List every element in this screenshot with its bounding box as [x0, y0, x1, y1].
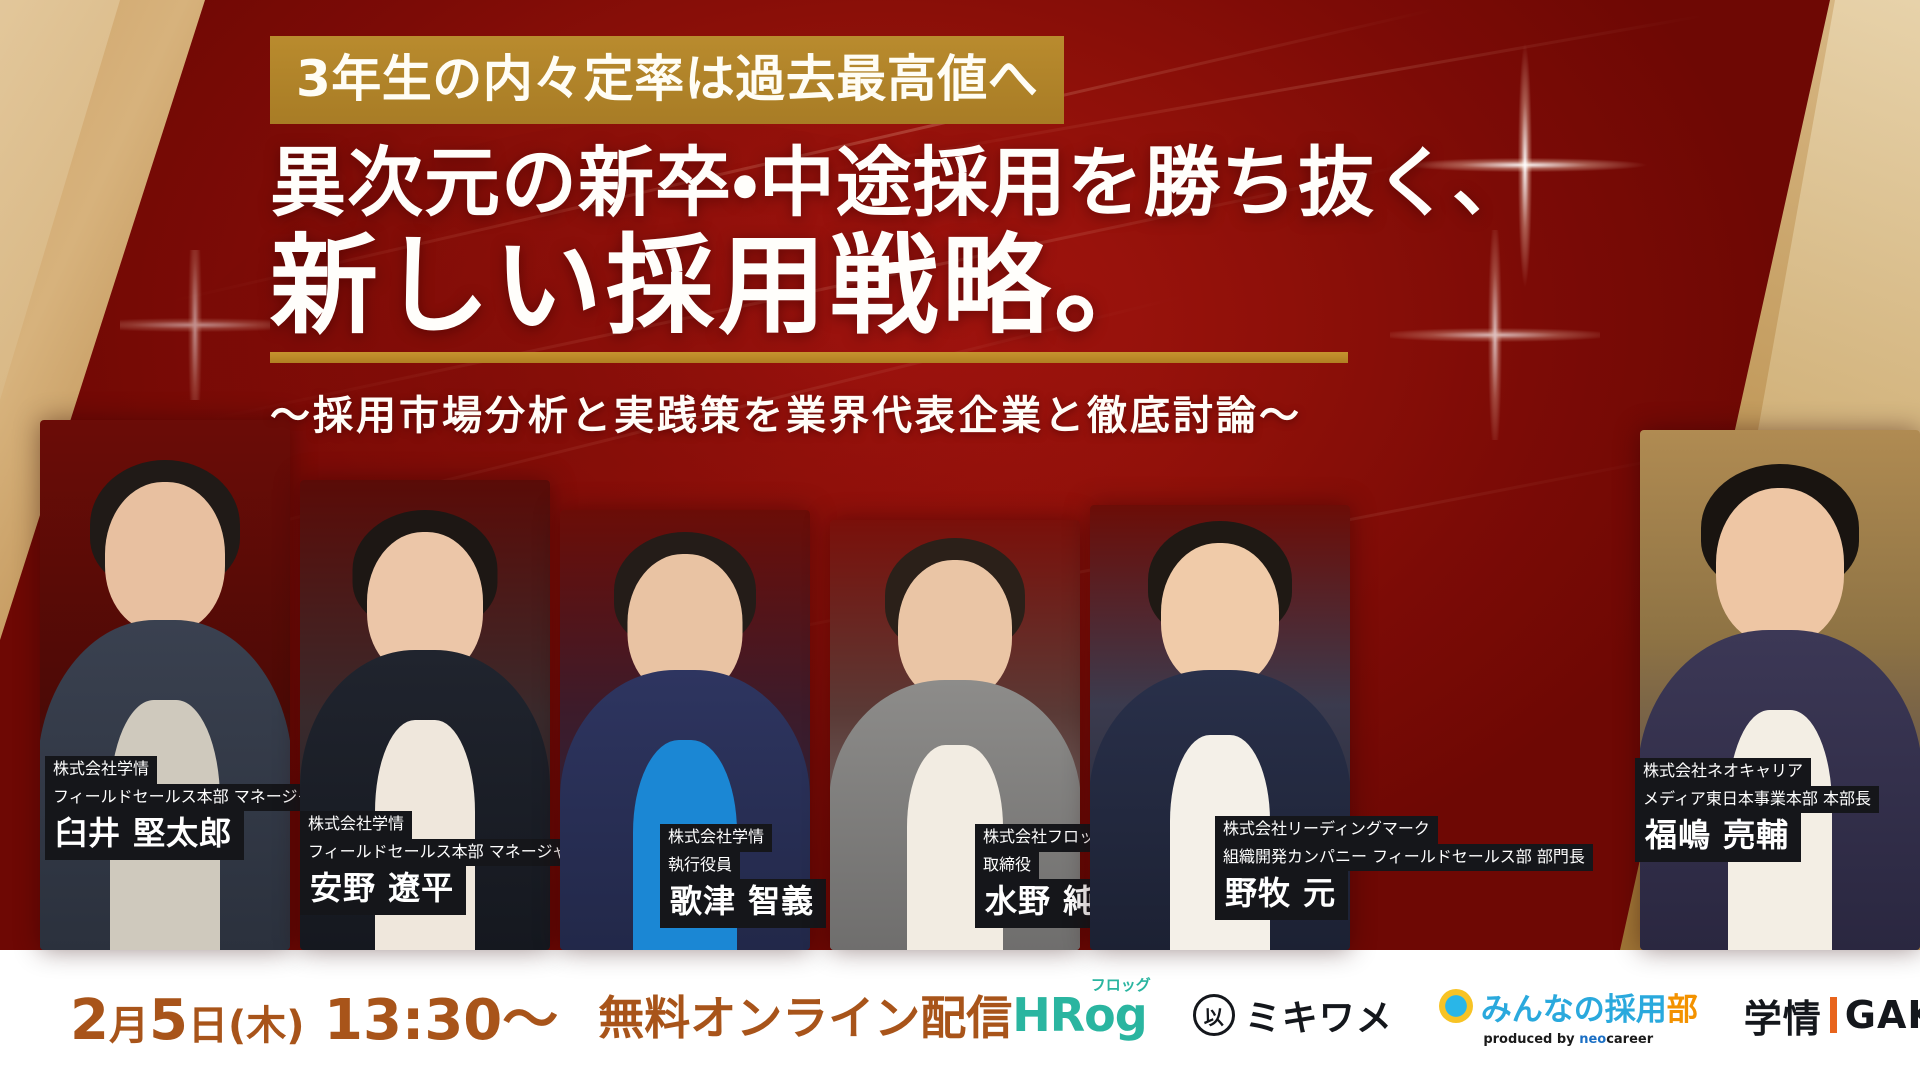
speaker-name: 安野 遼平 — [300, 866, 466, 915]
webinar-banner: 3年生の内々定率は過去最高値へ 異次元の新卒・中途採用を勝ち抜く、 新しい採用戦… — [0, 0, 1920, 1080]
avatar — [1161, 543, 1279, 687]
speaker-photo — [40, 420, 290, 950]
speaker-caption: 株式会社学情 フィールドセールス本部 マネージャー 安野 遼平 — [300, 811, 592, 915]
logo-minna-sub-prefix: produced by — [1483, 1032, 1579, 1047]
logo-hrog-text: HRog — [1012, 988, 1146, 1042]
speaker-company: 株式会社学情 — [45, 756, 157, 783]
logo-minna-text: みんなの採用 — [1481, 992, 1667, 1028]
logo-hrog: HRog フロッグ — [1012, 988, 1146, 1042]
speaker-name: 野牧 元 — [1215, 871, 1348, 920]
avatar — [1716, 488, 1844, 644]
date-month-unit: 月 — [109, 1003, 149, 1049]
avatar — [105, 482, 225, 632]
headline-line-2: 新しい採用戦略。 — [270, 227, 1640, 346]
sub-headline: ～採用市場分析と実践策を業界代表企業と徹底討論～ — [270, 383, 1640, 441]
speaker-name: 水野 純 — [975, 879, 1108, 928]
speaker-card: 株式会社学情 執行役員 歌津 智義 — [560, 510, 810, 950]
speaker-caption: 株式会社学情 フィールドセールス本部 マネージャー 臼井 堅太郎 — [45, 756, 337, 860]
speaker-photo — [1640, 430, 1920, 950]
speaker-name: 歌津 智義 — [660, 879, 826, 928]
speaker-card: 株式会社学情 フィールドセールス本部 マネージャー 安野 遼平 — [300, 480, 550, 950]
speaker-company: 株式会社リーディングマーク — [1215, 816, 1438, 843]
sponsor-logos: HRog フロッグ 以 ミキワメ みんなの採用部 produced by neo… — [1012, 984, 1920, 1047]
date-day-unit: 日 — [188, 1003, 228, 1049]
speaker-card: 株式会社ネオキャリア メディア東日本事業本部 本部長 福嶋 亮輔 — [1640, 430, 1920, 950]
delivery-label: 無料オンライン配信 — [598, 982, 1012, 1048]
speaker-name: 臼井 堅太郎 — [45, 811, 244, 860]
speaker-row: 株式会社学情 フィールドセールス本部 マネージャー 臼井 堅太郎 株式会社学情 … — [0, 390, 1920, 950]
logo-hrog-kana: フロッグ — [1091, 974, 1151, 995]
logo-minna-accent: 部 — [1667, 992, 1698, 1028]
footer-bar: 2月5日(木) 13:30～ 無料オンライン配信 HRog フロッグ 以 ミキワ… — [0, 950, 1920, 1080]
speaker-card: 株式会社リーディングマーク 組織開発カンパニー フィールドセールス部 部門長 野… — [1090, 505, 1350, 950]
speaker-title: 組織開発カンパニー フィールドセールス部 部門長 — [1215, 844, 1593, 871]
logo-gakujo: 学情 GAKUJO — [1744, 988, 1920, 1043]
mikiwame-mark-icon: 以 — [1193, 994, 1235, 1036]
logo-minna-no-saiyobu: みんなの採用部 produced by neocareer — [1439, 984, 1698, 1047]
event-date: 2月5日(木) 13:30～ — [70, 975, 558, 1056]
logo-gakujo-divider — [1830, 997, 1837, 1033]
avatar — [898, 560, 1012, 700]
logo-gakujo-jp: 学情 — [1744, 988, 1822, 1043]
speaker-title: メディア東日本事業本部 本部長 — [1635, 786, 1879, 813]
logo-mikiwame-text: ミキワメ — [1245, 989, 1393, 1041]
speaker-company: 株式会社学情 — [660, 824, 772, 851]
sun-icon — [1439, 989, 1473, 1023]
date-day: 5 — [149, 988, 188, 1053]
speaker-company: 株式会社ネオキャリア — [1635, 758, 1811, 785]
kicker-banner: 3年生の内々定率は過去最高値へ — [270, 36, 1064, 124]
logo-gakujo-en: GAKUJO — [1845, 993, 1920, 1037]
speaker-company: 株式会社学情 — [300, 811, 412, 838]
logo-minna-sub-brand: neo — [1579, 1032, 1606, 1047]
speaker-caption: 株式会社学情 執行役員 歌津 智義 — [660, 824, 826, 928]
speaker-card: 株式会社フロッグ 取締役 水野 純 — [830, 520, 1080, 950]
speaker-name: 福嶋 亮輔 — [1635, 813, 1801, 862]
speaker-title: 執行役員 — [660, 852, 740, 879]
logo-minna-sub-brand2: career — [1606, 1032, 1653, 1047]
speaker-title: 取締役 — [975, 852, 1039, 879]
logo-mikiwame: 以 ミキワメ — [1193, 989, 1393, 1041]
speaker-caption: 株式会社ネオキャリア メディア東日本事業本部 本部長 福嶋 亮輔 — [1635, 758, 1879, 862]
date-month: 2 — [70, 988, 109, 1053]
speaker-caption: 株式会社リーディングマーク 組織開発カンパニー フィールドセールス部 部門長 野… — [1215, 816, 1593, 920]
event-time: 13:30～ — [324, 988, 558, 1053]
gold-underline — [270, 352, 1348, 363]
speaker-card: 株式会社学情 フィールドセールス本部 マネージャー 臼井 堅太郎 — [40, 420, 290, 950]
date-weekday: (木) — [228, 1003, 305, 1049]
speaker-title: フィールドセールス本部 マネージャー — [300, 839, 592, 866]
headline-line-1: 異次元の新卒・中途採用を勝ち抜く、 — [270, 140, 1640, 225]
speaker-title: フィールドセールス本部 マネージャー — [45, 784, 337, 811]
headline-block: 3年生の内々定率は過去最高値へ 異次元の新卒・中途採用を勝ち抜く、 新しい採用戦… — [270, 36, 1640, 441]
